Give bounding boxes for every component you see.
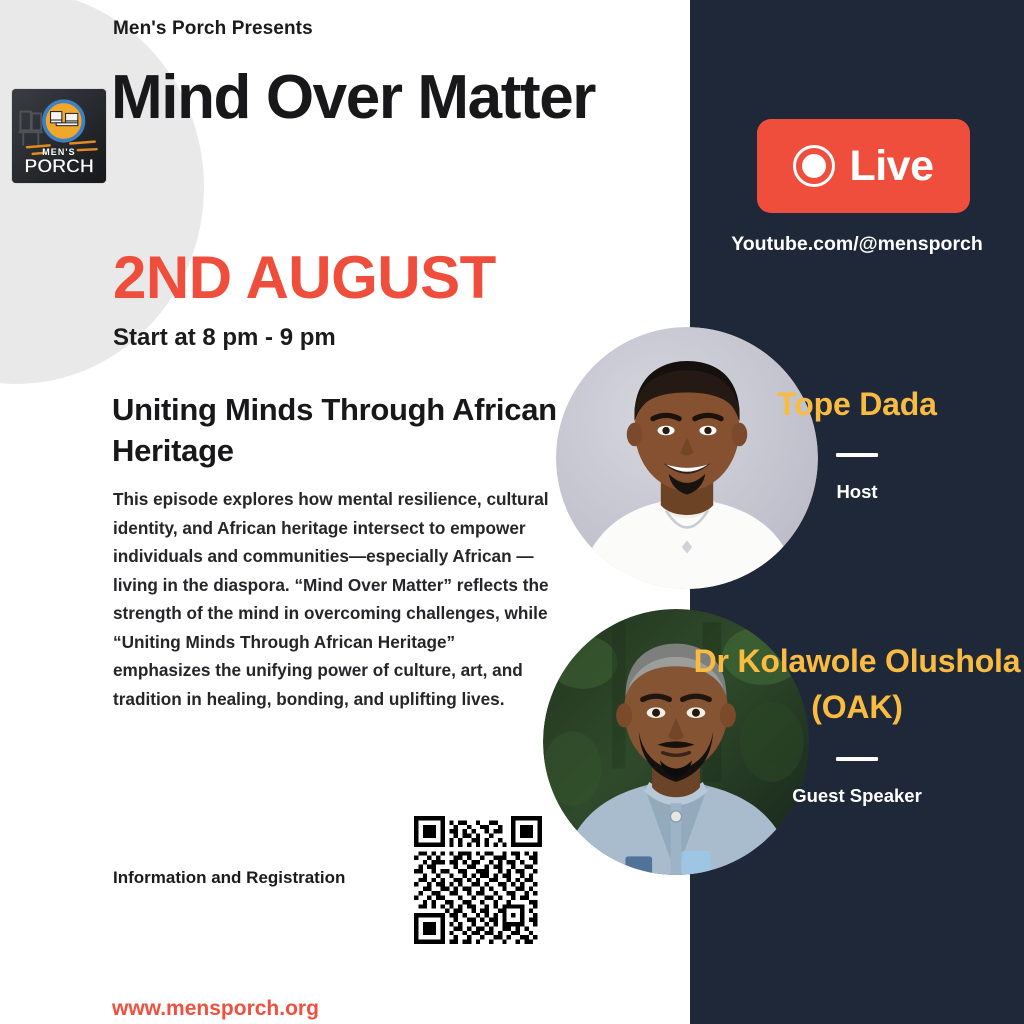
live-badge-label: Live: [849, 142, 933, 191]
speaker-card-guest: Dr Kolawole Olushola (OAK) Guest Speaker: [690, 638, 1024, 807]
speaker-name: Dr Kolawole Olushola (OAK): [690, 638, 1024, 731]
event-poster: Men's Porch Presents: [0, 0, 1024, 1024]
speaker-role: Guest Speaker: [690, 785, 1024, 807]
speaker-name: Tope Dada: [690, 381, 1024, 427]
speaker-card-host: Tope Dada Host: [690, 381, 1024, 503]
speaker-divider: [836, 757, 878, 761]
mens-porch-logo-icon: MEN'S PORCH: [12, 89, 106, 183]
episode-description: This episode explores how mental resilie…: [113, 485, 555, 713]
event-time: Start at 8 pm - 9 pm: [113, 324, 336, 352]
registration-label: Information and Registration: [113, 868, 345, 888]
qr-code-icon[interactable]: [410, 816, 546, 944]
episode-title: Uniting Minds Through African Heritage: [112, 390, 582, 472]
speaker-divider: [836, 453, 878, 457]
brand-presents-line: Men's Porch Presents: [113, 18, 313, 40]
live-badge[interactable]: Live: [757, 119, 970, 213]
youtube-handle[interactable]: Youtube.com/@mensporch: [690, 233, 1024, 256]
live-record-dot-icon: [793, 145, 835, 187]
speaker-role: Host: [690, 481, 1024, 503]
website-url[interactable]: www.mensporch.org: [112, 997, 319, 1021]
show-title: Mind Over Matter: [111, 68, 671, 128]
event-date: 2ND AUGUST: [113, 243, 496, 312]
svg-text:PORCH: PORCH: [24, 156, 93, 178]
